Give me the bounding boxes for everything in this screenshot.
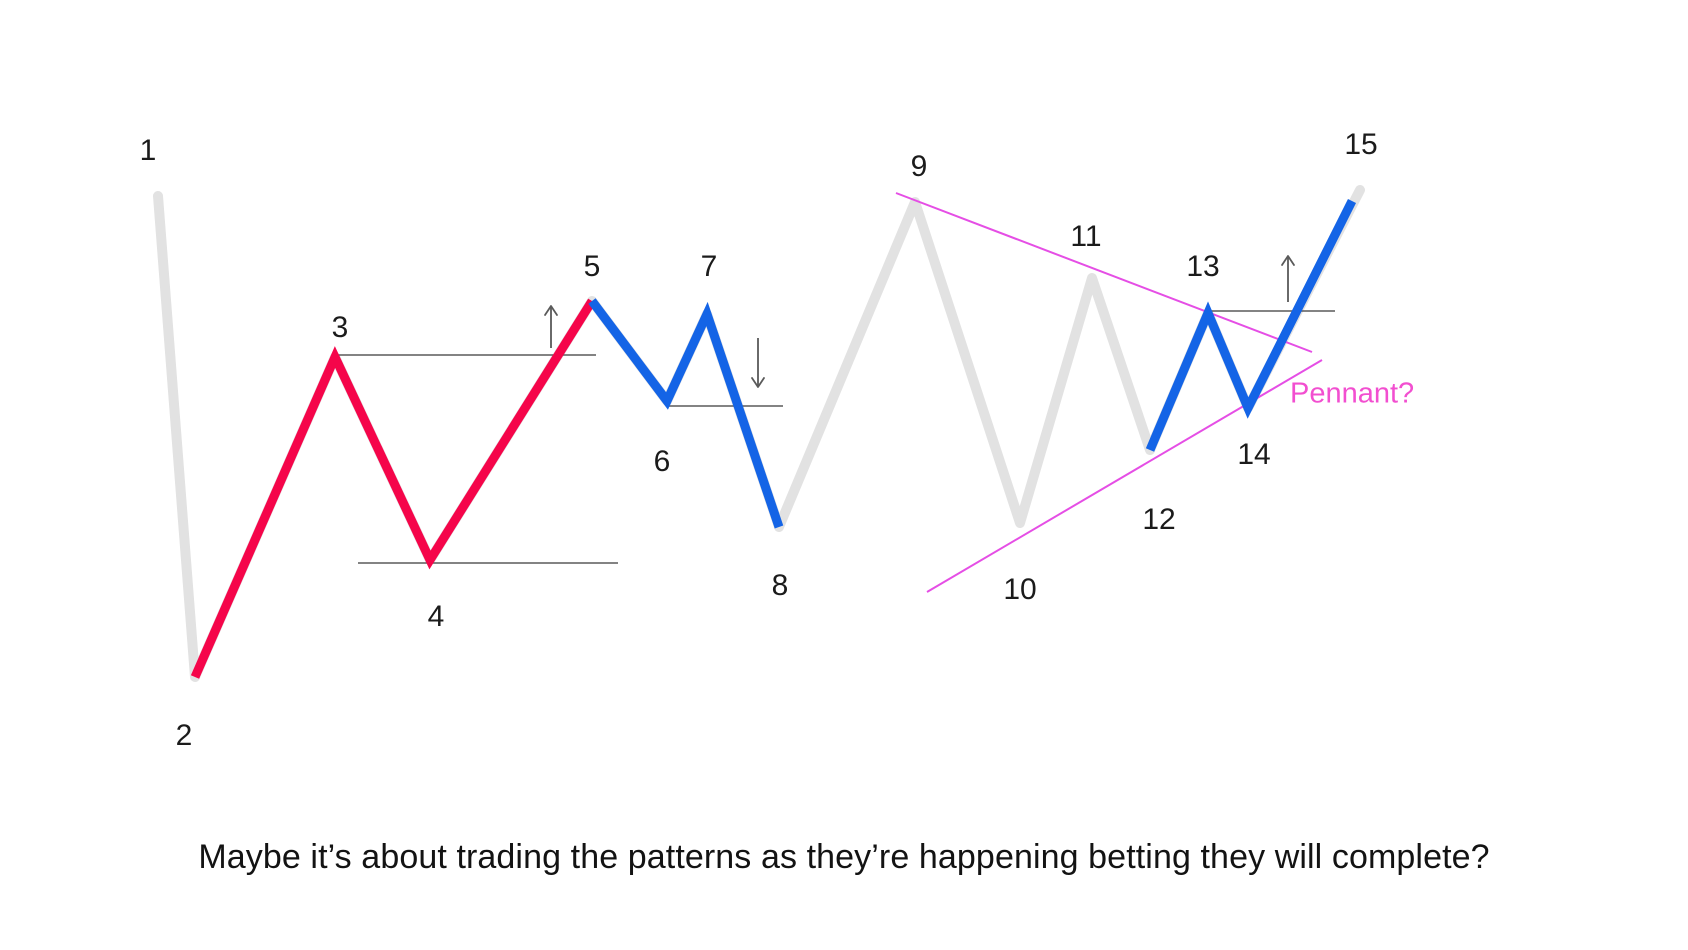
wave-label-9: 9	[911, 150, 928, 183]
breakdown-down-8-icon	[752, 338, 764, 387]
pennant-breakout-blue	[1150, 201, 1352, 450]
caption-text: Maybe it’s about trading the patterns as…	[0, 838, 1688, 877]
wave-labels-group: 123456789101112131415	[140, 128, 1378, 752]
wave-label-14: 14	[1237, 438, 1270, 471]
measure-rules-group	[335, 311, 1335, 563]
breakout-up-15-icon	[1282, 256, 1294, 302]
price-pattern-chart: 123456789101112131415 Pennant?	[0, 0, 1688, 950]
wave-label-4: 4	[428, 600, 445, 633]
wave-label-15: 15	[1344, 128, 1377, 161]
wave-label-11: 11	[1070, 220, 1101, 253]
pennant-annotation-group: Pennant?	[1290, 378, 1414, 410]
impulse-red	[195, 301, 592, 677]
breakout-up-5-icon	[545, 306, 557, 348]
ghost-path-group	[158, 190, 1360, 677]
diagram-canvas: 123456789101112131415 Pennant? Maybe it’…	[0, 0, 1688, 950]
wave-label-8: 8	[772, 569, 789, 602]
wave-label-7: 7	[701, 250, 718, 283]
wave-label-2: 2	[176, 719, 193, 752]
wave-label-10: 10	[1003, 573, 1036, 606]
pennant-lower	[927, 360, 1322, 592]
wave-label-3: 3	[332, 311, 349, 344]
wave-label-12: 12	[1142, 503, 1175, 536]
wave-label-1: 1	[140, 134, 157, 167]
pennant-annotation-label: Pennant?	[1290, 378, 1414, 410]
wave-label-5: 5	[584, 250, 601, 283]
wave-label-6: 6	[654, 445, 671, 478]
wave-label-13: 13	[1186, 250, 1219, 283]
correction-blue	[592, 301, 779, 527]
highlight-series-group	[195, 201, 1352, 677]
ghost-price-path	[158, 190, 1360, 677]
